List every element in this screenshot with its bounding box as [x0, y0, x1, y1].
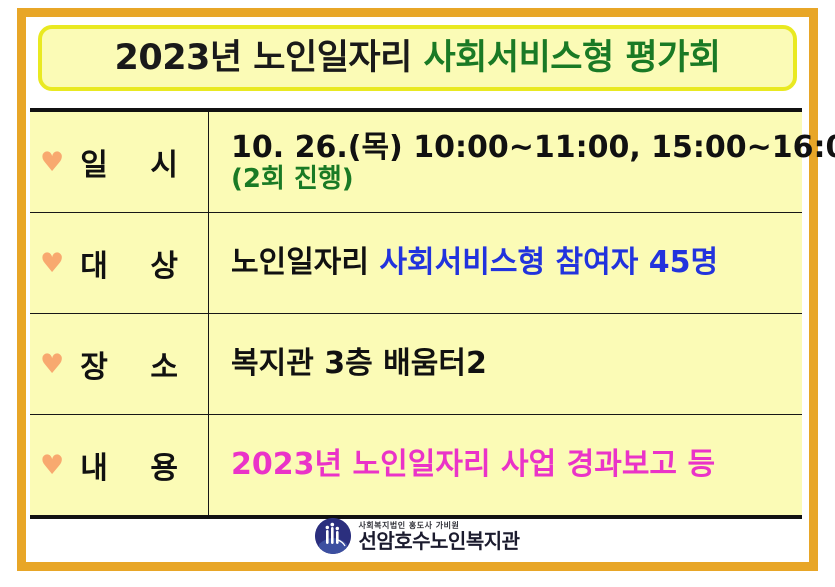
row-label-datetime: 일 시 [80, 140, 208, 184]
label-char: 일 [80, 140, 108, 184]
label-char: 시 [150, 140, 178, 184]
label-char: 상 [150, 241, 178, 285]
table-row: ♥ 일 시 10. 26.(목) 10:00~11:00, 15:00~16:0… [30, 110, 802, 213]
title-segment-black: 2023년 노인일자리 [115, 38, 424, 78]
row-value-cell-datetime: 10. 26.(목) 10:00~11:00, 15:00~16:00 (2회 … [209, 110, 803, 213]
table-row: ♥ 내 용 2023년 노인일자리 사업 경과보고 등 [30, 415, 802, 518]
audience-segment-blue: 사회서비스형 참여자 45명 [379, 245, 718, 280]
label-char: 장 [80, 342, 108, 386]
poster-title-box: 2023년 노인일자리 사회서비스형 평가회 [38, 25, 797, 91]
label-char: 내 [80, 443, 108, 487]
row-value-venue: 복지관 3층 배움터2 [231, 347, 802, 381]
heart-icon: ♥ [40, 351, 64, 378]
row-label-venue: 장 소 [80, 342, 208, 386]
row-label-cell-datetime: ♥ 일 시 [30, 110, 209, 213]
label-char: 대 [80, 241, 108, 285]
title-segment-green: 사회서비스형 평가회 [423, 38, 720, 78]
footer-logo-block: 사회복지법인 홍도사 가비원 선암호수노인복지관 [0, 518, 835, 554]
row-value-datetime-line2: (2회 진행) [231, 165, 802, 194]
row-label-audience: 대 상 [80, 241, 208, 285]
row-value-cell-content: 2023년 노인일자리 사업 경과보고 등 [209, 415, 803, 518]
event-info-table: ♥ 일 시 10. 26.(목) 10:00~11:00, 15:00~16:0… [30, 108, 802, 519]
label-char: 용 [150, 443, 178, 487]
organization-emblem-icon [315, 518, 351, 554]
row-label-cell-venue: ♥ 장 소 [30, 314, 209, 415]
row-label-content: 내 용 [80, 443, 208, 487]
row-value-datetime-line1: 10. 26.(목) 10:00~11:00, 15:00~16:00 [231, 131, 802, 165]
heart-icon: ♥ [40, 452, 64, 479]
heart-icon: ♥ [40, 250, 64, 277]
page-title: 2023년 노인일자리 사회서비스형 평가회 [115, 41, 721, 76]
label-char: 소 [150, 342, 178, 386]
row-label-cell-content: ♥ 내 용 [30, 415, 209, 518]
row-label-cell-audience: ♥ 대 상 [30, 213, 209, 314]
poster-root: 2023년 노인일자리 사회서비스형 평가회 ♥ 일 시 10. 26.(목) … [0, 0, 835, 587]
table-row: ♥ 대 상 노인일자리 사회서비스형 참여자 45명 [30, 213, 802, 314]
organization-name: 선암호수노인복지관 [358, 531, 519, 551]
table-row: ♥ 장 소 복지관 3층 배움터2 [30, 314, 802, 415]
audience-segment-black: 노인일자리 [231, 245, 379, 280]
heart-icon: ♥ [40, 149, 64, 176]
row-value-content: 2023년 노인일자리 사업 경과보고 등 [231, 448, 802, 482]
row-value-audience: 노인일자리 사회서비스형 참여자 45명 [231, 246, 802, 280]
row-value-cell-audience: 노인일자리 사회서비스형 참여자 45명 [209, 213, 803, 314]
row-value-cell-venue: 복지관 3층 배움터2 [209, 314, 803, 415]
